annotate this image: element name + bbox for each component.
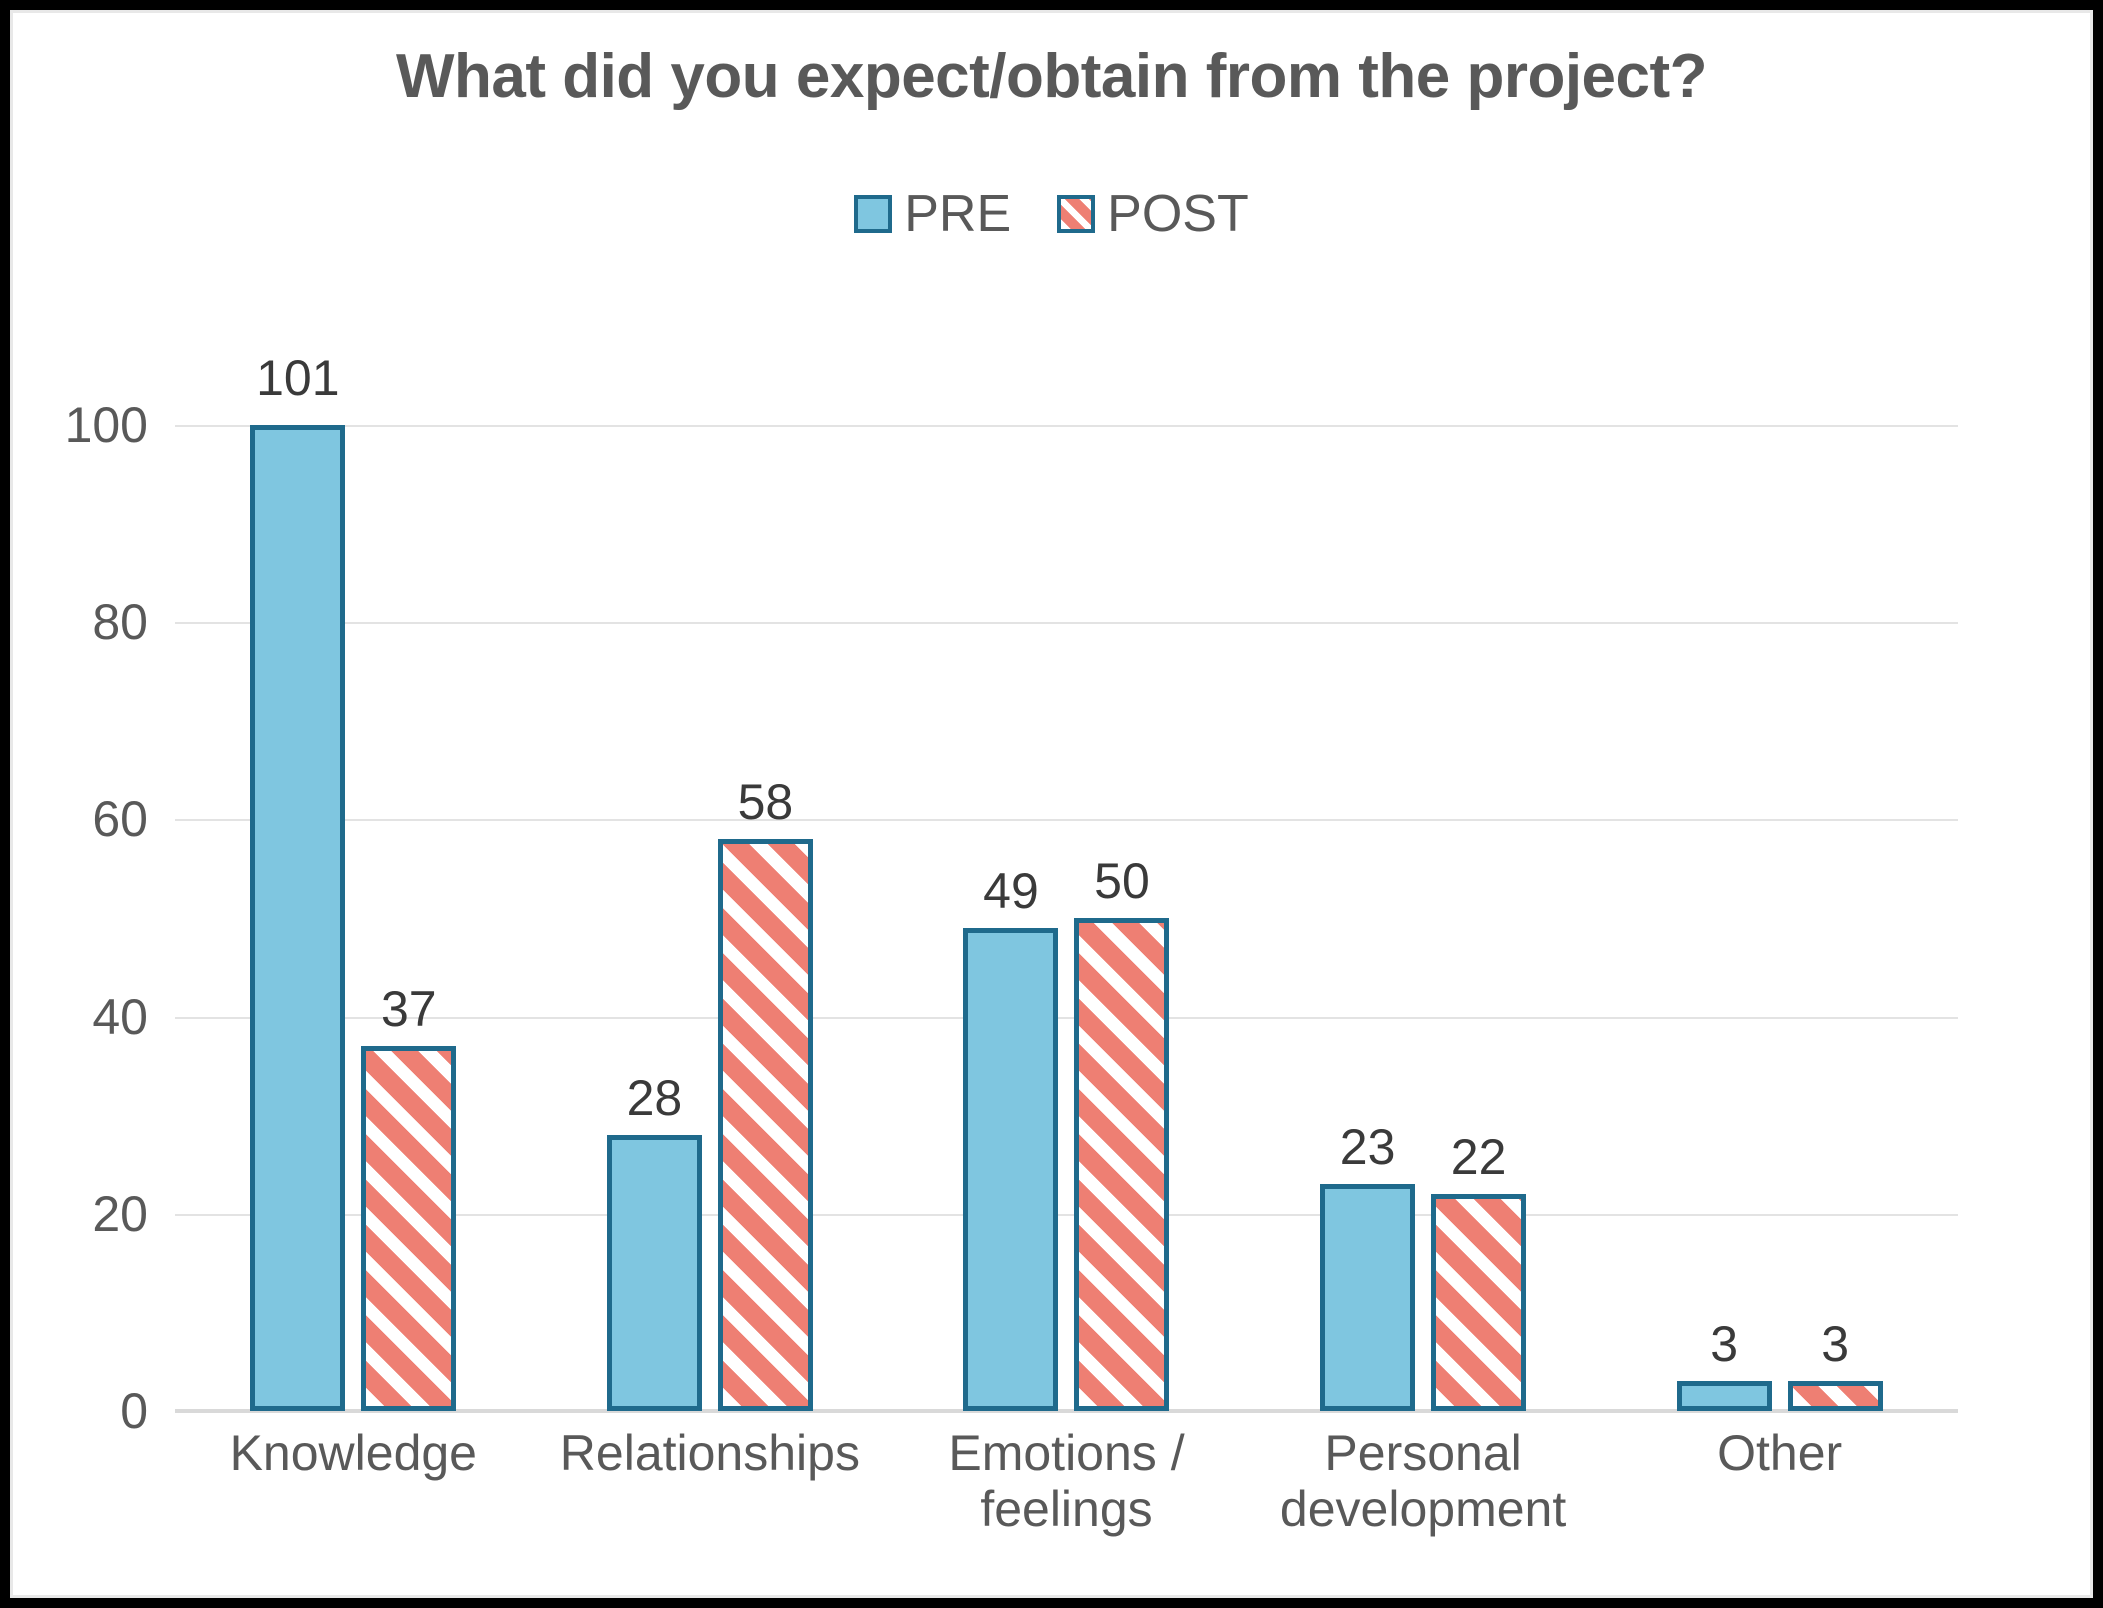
bar-slot-post: 50 <box>1074 425 1169 1411</box>
bar-group: 2322 <box>1245 425 1602 1411</box>
bar-slot-pre: 101 <box>250 425 345 1411</box>
bar-group: 2858 <box>532 425 889 1411</box>
y-axis-tick-label: 0 <box>10 1382 148 1440</box>
bar-value-label: 3 <box>1710 1319 1738 1369</box>
bar-group: 4950 <box>888 425 1245 1411</box>
chart-canvas: What did you expect/obtain from the proj… <box>10 10 2093 1598</box>
legend-item-post[interactable]: POST <box>1057 188 1249 240</box>
bar-post[interactable] <box>1074 918 1169 1411</box>
bar-slot-post: 58 <box>718 425 813 1411</box>
bar-value-label: 28 <box>627 1073 683 1123</box>
y-axis-tick-label: 40 <box>10 988 148 1046</box>
bar-post[interactable] <box>361 1046 456 1411</box>
bar-post[interactable] <box>1788 1381 1883 1411</box>
chart-frame: What did you expect/obtain from the proj… <box>0 0 2103 1608</box>
bar-value-label: 101 <box>256 353 339 403</box>
bar-slot-pre: 3 <box>1677 425 1772 1411</box>
x-axis-category-label: Personal development <box>1245 1425 1602 1537</box>
y-axis-tick-label: 60 <box>10 790 148 848</box>
bar-slot-post: 37 <box>361 425 456 1411</box>
bar-pre[interactable] <box>1677 1381 1772 1411</box>
x-axis-labels: KnowledgeRelationshipsEmotions / feeling… <box>175 1425 1958 1537</box>
bar-value-label: 37 <box>381 984 437 1034</box>
y-axis-tick-label: 100 <box>10 396 148 454</box>
bar-pre[interactable] <box>250 425 345 1411</box>
x-axis-category-label: Emotions / feelings <box>888 1425 1245 1537</box>
bar-groups: 1013728584950232233 <box>175 425 1958 1411</box>
legend-label-pre: PRE <box>904 188 1011 240</box>
bar-value-label: 23 <box>1340 1122 1396 1172</box>
x-axis-category-label: Knowledge <box>175 1425 532 1537</box>
x-axis-category-label: Relationships <box>532 1425 889 1537</box>
chart-legend: PRE POST <box>13 188 2090 240</box>
bar-value-label: 3 <box>1821 1319 1849 1369</box>
bar-slot-pre: 23 <box>1320 425 1415 1411</box>
chart-title: What did you expect/obtain from the proj… <box>13 41 2090 112</box>
bar-post[interactable] <box>718 839 813 1411</box>
bar-value-label: 22 <box>1451 1132 1507 1182</box>
bar-slot-post: 3 <box>1788 425 1883 1411</box>
x-axis-category-label: Other <box>1601 1425 1958 1537</box>
bar-value-label: 58 <box>738 777 794 827</box>
legend-label-post: POST <box>1107 188 1249 240</box>
bar-pre[interactable] <box>963 928 1058 1411</box>
legend-item-pre[interactable]: PRE <box>854 188 1011 240</box>
bar-slot-pre: 28 <box>607 425 702 1411</box>
legend-swatch-post-icon <box>1057 195 1095 233</box>
bar-slot-pre: 49 <box>963 425 1058 1411</box>
bar-group: 10137 <box>175 425 532 1411</box>
bar-post[interactable] <box>1431 1194 1526 1411</box>
bar-group: 33 <box>1601 425 1958 1411</box>
bar-pre[interactable] <box>607 1135 702 1411</box>
bar-value-label: 50 <box>1094 856 1150 906</box>
bar-pre[interactable] <box>1320 1184 1415 1411</box>
bar-value-label: 49 <box>983 866 1039 916</box>
legend-swatch-pre-icon <box>854 195 892 233</box>
plot-area: 020406080100 1013728584950232233 <box>175 425 1958 1411</box>
bar-slot-post: 22 <box>1431 425 1526 1411</box>
y-axis-tick-label: 20 <box>10 1185 148 1243</box>
y-axis-tick-label: 80 <box>10 593 148 651</box>
